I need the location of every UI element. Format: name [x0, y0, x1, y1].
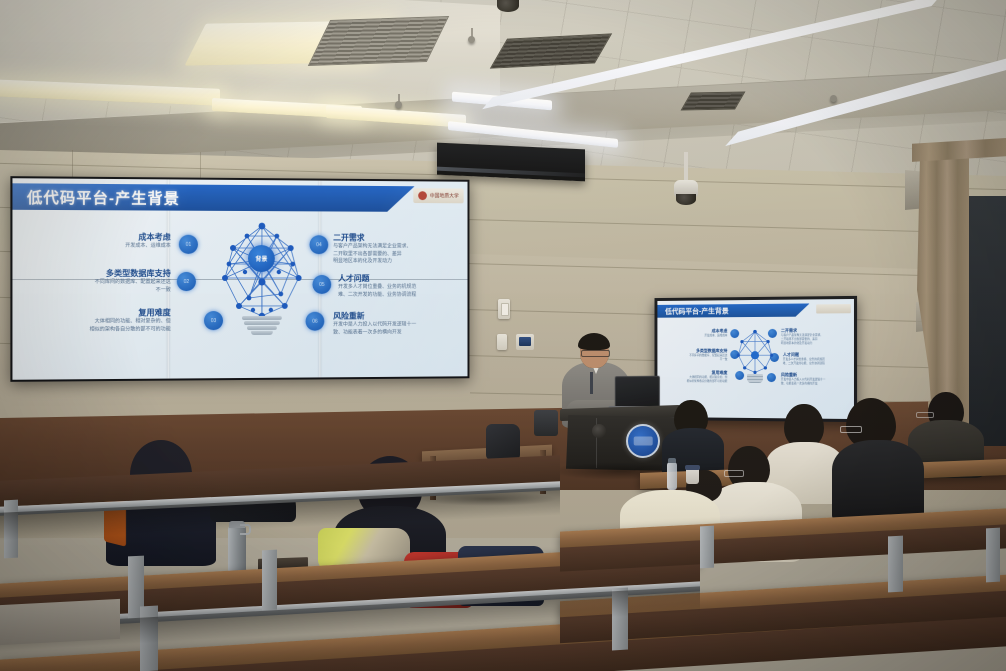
audience-body-b2 [832, 440, 924, 522]
bench-leg-2 [262, 550, 277, 611]
tv-block-left-1: 成本考虑 开发成本、运维成本 [675, 328, 728, 338]
tv-block-left-1-body: 开发成本、运维成本 [675, 334, 728, 338]
chair-backrest [534, 410, 558, 436]
audience-a2-glasses-icon [916, 412, 934, 418]
hvac-vent-icon [308, 16, 449, 66]
coffee-cup [686, 468, 699, 484]
podium-emblem-icon [626, 424, 660, 458]
bench-leg-7 [986, 528, 1000, 583]
secondary-switch-panel[interactable] [497, 334, 507, 350]
video-wall[interactable]: 低代码平台-产生背景 中国地质大学 成本考虑 开发成本、运维成本 01 多类型数… [10, 176, 469, 382]
tv-block-left-3: 复用难度 大体相同的功能、相对复杂的、但 相似的架构各自分散的部不可的功能 [671, 370, 727, 384]
tv-block-right-1: 二开需求 与客户产品架构无法满足企业需求、 二开取里不出各部需要的、差异 明显地… [781, 328, 842, 346]
coffee-cup-lid [685, 465, 700, 470]
presentation-slide: 低代码平台-产生背景 中国地质大学 成本考虑 开发成本、运维成本 01 多类型数… [12, 178, 467, 380]
bench-leg-6 [888, 536, 903, 593]
water-bottle-right [667, 462, 677, 490]
podium-mic-base [592, 424, 606, 438]
tv-slide-title: 低代码平台-产生背景 [665, 306, 729, 316]
dome-camera-icon [497, 0, 519, 12]
fire-sprinkler-3-icon [830, 95, 837, 102]
presenter-lanyard [590, 372, 593, 394]
tv-block-right-2-body: 开发多人才岗位重叠、业务的机规范 难、二次开发的功能、业务协调流程 [783, 358, 844, 366]
tv-block-left-2-body: 不同库间的数据库、配置起来还这 不一致 [667, 354, 727, 362]
light-switch-toggle-icon[interactable] [501, 303, 509, 316]
presenter-glasses-icon [581, 350, 610, 357]
fire-sprinkler-icon [468, 36, 475, 43]
tv-block-right-3-body: 开发中是人力投入以代码开发逻辑十一 致、功能表着一次多的横向开发 [781, 378, 842, 386]
av-control-panel-screen[interactable] [519, 337, 531, 346]
tv-block-left-3-body: 大体相同的功能、相对复杂的、但 相似的架构各自分散的部不可的功能 [671, 376, 727, 384]
ptz-camera-dome-icon [676, 194, 696, 205]
hvac-vent-3-icon [681, 92, 746, 111]
audience-b2-glasses-icon [840, 426, 862, 433]
tv-block-right-3: 风险重新 开发中是人力投入以代码开发逻辑十一 致、功能表着一次多的横向开发 [781, 372, 842, 386]
bench-leg-8 [700, 526, 714, 569]
screen-glare [12, 178, 467, 380]
tv-slide-logo [816, 304, 851, 313]
fire-sprinkler-2-icon [395, 101, 402, 108]
tv-block-left-2: 多类型数据库支持 不同库间的数据库、配置起来还这 不一致 [667, 348, 727, 362]
floor [0, 599, 120, 645]
hvac-vent-2-icon [490, 33, 612, 68]
tv-block-right-2: 人才问题 开发多人才岗位重叠、业务的机规范 难、二次开发的功能、业务协调流程 [783, 352, 844, 366]
ptz-camera-pole [684, 152, 688, 182]
podium-emblem-inner [634, 437, 653, 446]
tv-bulb-screw [747, 374, 763, 383]
tv-slide-title-bar: 低代码平台-产生背景 [657, 303, 809, 317]
water-bottle-right-cap [668, 458, 676, 463]
bag-on-floor [486, 424, 520, 460]
tv-block-right-1-body: 与客户产品架构无法满足企业需求、 二开取里不出各部需要的、差异 明显地区本的化及… [781, 334, 842, 346]
audience-b3-glasses-icon [724, 470, 744, 477]
tv-lightbulb-graphic [731, 326, 779, 384]
lecture-hall-photo: 低代码平台-产生背景 中国地质大学 成本考虑 开发成本、运维成本 01 多类型数… [0, 0, 1006, 671]
